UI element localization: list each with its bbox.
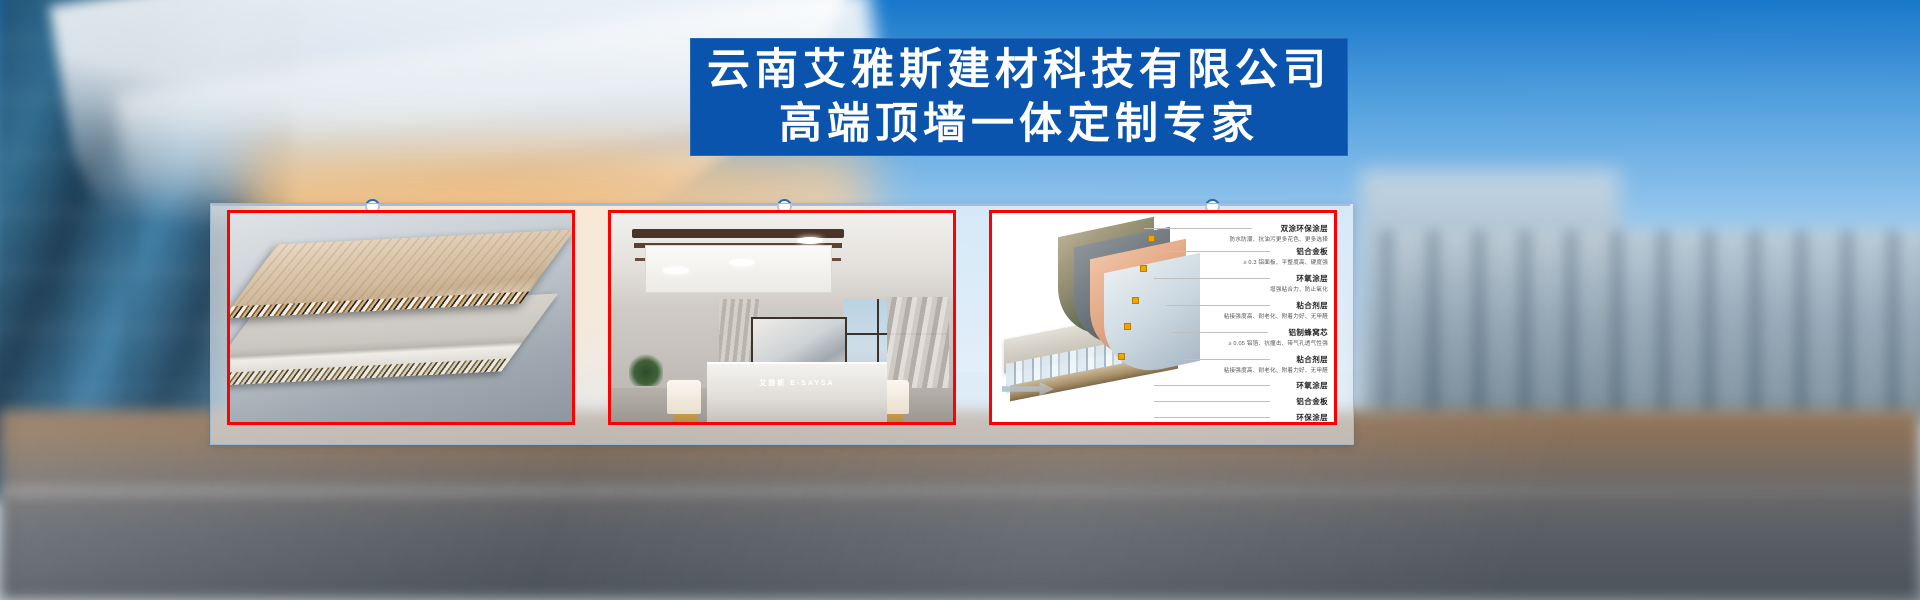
ground-reflection-line — [0, 486, 1920, 496]
company-slogan-line: 高端顶墙一体定制专家 — [779, 97, 1259, 151]
layer-desc-4: 粘接强度高、耐老化、附着力好、无甲醛 — [1224, 312, 1328, 320]
ceiling-light-3 — [797, 237, 823, 244]
exploded-layer-artwork — [1000, 219, 1180, 419]
layer-desc-5: ≥ 0.05 铝箔、抗撞击、带气孔透气性强 — [1228, 339, 1328, 347]
table-lamp-left — [667, 380, 701, 414]
layer-leader-6 — [1166, 359, 1270, 360]
callout-node-3 — [1132, 297, 1139, 304]
product-card-layer-diagram[interactable]: 双涂环保涂层 防水防潮、抗油污更多花色、更多选择 铝合金板 ≥ 0.3 铝面板、… — [989, 210, 1337, 425]
reception-desk: 艾雅斯 E-SAYSA — [707, 362, 887, 422]
ceiling-light-1 — [663, 267, 689, 274]
layer-leader-1 — [1144, 228, 1252, 229]
card3-background: 双涂环保涂层 防水防潮、抗油污更多花色、更多选择 铝合金板 ≥ 0.3 铝面板、… — [992, 213, 1334, 422]
layer-leader-4 — [1166, 305, 1270, 306]
slider-card-track: 艾雅斯 E-SAYSA — [211, 204, 1353, 444]
callout-node-4 — [1124, 323, 1131, 330]
layer-leader-5 — [1172, 332, 1268, 333]
layer-label-column: 双涂环保涂层 防水防潮、抗油污更多花色、更多选择 铝合金板 ≥ 0.3 铝面板、… — [1178, 219, 1330, 421]
callout-node-1 — [1148, 235, 1155, 242]
layer-leader-8 — [1154, 401, 1270, 402]
layer-leader-2 — [1158, 251, 1270, 252]
product-slider[interactable]: 艾雅斯 E-SAYSA — [210, 203, 1354, 445]
layer-leader-7 — [1154, 385, 1270, 386]
layer-desc-3: 增强粘合力、防止氧化 — [1270, 285, 1328, 293]
layer-title-6: 粘合剂层 — [1296, 354, 1328, 365]
product-card-interior-render[interactable]: 艾雅斯 E-SAYSA — [608, 210, 956, 425]
layer-desc-1: 防水防潮、抗油污更多花色、更多选择 — [1230, 235, 1329, 243]
layer-title-5: 铝制蜂窝芯 — [1289, 327, 1329, 338]
banner-stage: 云南艾雅斯建材科技有限公司 高端顶墙一体定制专家 — [0, 0, 1920, 600]
ceiling-light-2 — [729, 259, 755, 266]
desk-logo-text: 艾雅斯 E-SAYSA — [707, 378, 887, 388]
layer-title-9: 环保涂层 — [1296, 412, 1328, 423]
card2-background: 艾雅斯 E-SAYSA — [611, 213, 953, 422]
layer-title-4: 粘合剂层 — [1296, 300, 1328, 311]
layer-title-7: 环氧涂层 — [1296, 380, 1328, 391]
layer-title-1: 双涂环保涂层 — [1281, 223, 1328, 234]
layer-desc-6: 粘接强度高、耐老化、附着力好、无甲醛 — [1224, 366, 1328, 374]
layer-title-8: 铝合金板 — [1296, 396, 1328, 407]
company-name-line: 云南艾雅斯建材科技有限公司 — [707, 43, 1331, 97]
layer-desc-2: ≥ 0.3 铝面板、平整度高、硬度强 — [1243, 258, 1328, 266]
layer-title-2: 铝合金板 — [1296, 246, 1328, 257]
right-building-columns — [1380, 230, 1920, 420]
layer-title-3: 环氧涂层 — [1296, 273, 1328, 284]
company-title-plate: 云南艾雅斯建材科技有限公司 高端顶墙一体定制专家 — [690, 38, 1348, 156]
callout-node-5 — [1118, 353, 1125, 360]
potted-plant — [629, 352, 663, 386]
callout-node-2 — [1140, 265, 1147, 272]
layer-leader-9 — [1154, 417, 1270, 418]
product-card-honeycomb-board[interactable] — [227, 210, 575, 425]
layer-leader-3 — [1154, 278, 1270, 279]
